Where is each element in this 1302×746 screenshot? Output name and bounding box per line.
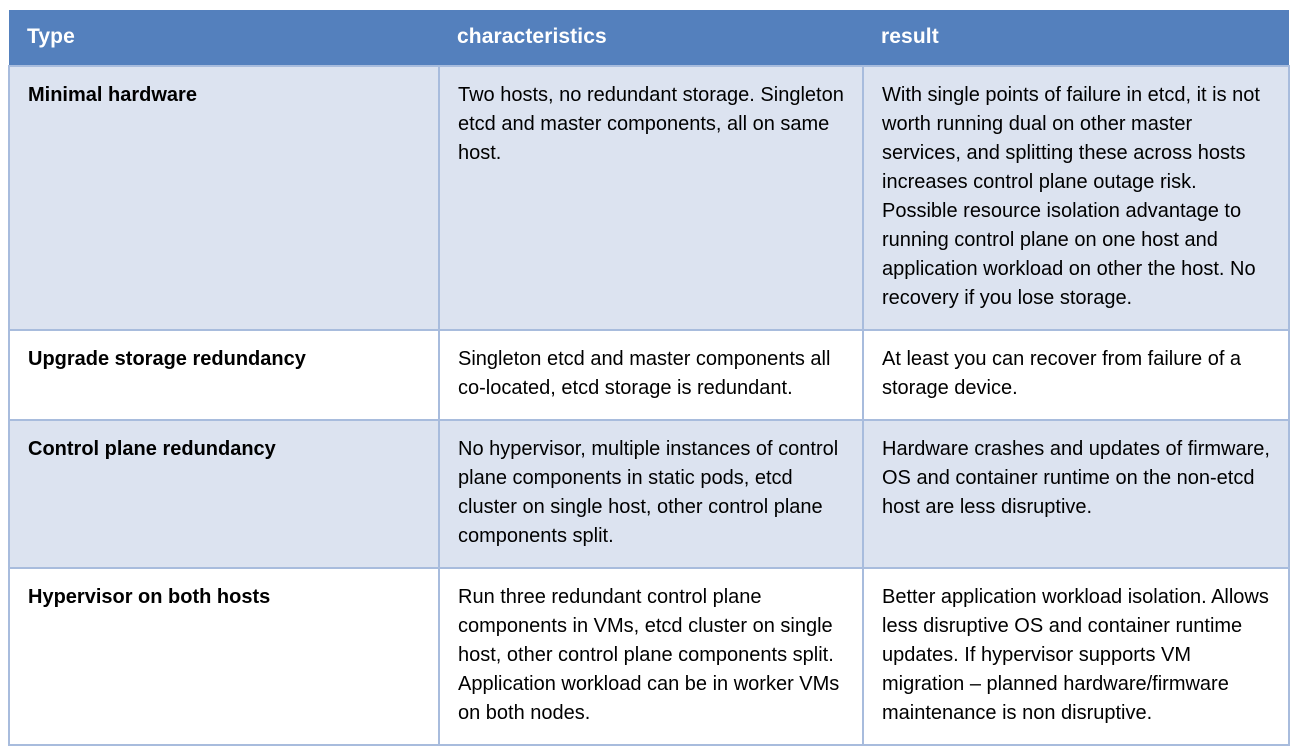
cell-characteristics-text: Run three redundant control plane compon…: [458, 583, 844, 728]
table-header: Type characteristics result: [9, 10, 1289, 66]
cell-type: Control plane redundancy: [9, 420, 439, 568]
cell-characteristics: No hypervisor, multiple instances of con…: [439, 420, 863, 568]
table-header-row: Type characteristics result: [9, 10, 1289, 66]
cell-characteristics: Singleton etcd and master components all…: [439, 330, 863, 420]
column-header-characteristics: characteristics: [439, 10, 863, 66]
cell-type: Upgrade storage redundancy: [9, 330, 439, 420]
table-row: Minimal hardwareTwo hosts, no redundant …: [9, 66, 1289, 330]
cell-result: With single points of failure in etcd, i…: [863, 66, 1289, 330]
table-row: Control plane redundancyNo hypervisor, m…: [9, 420, 1289, 568]
table-body: Minimal hardwareTwo hosts, no redundant …: [9, 66, 1289, 745]
cell-result: Hardware crashes and updates of firmware…: [863, 420, 1289, 568]
cell-result: At least you can recover from failure of…: [863, 330, 1289, 420]
comparison-table: Type characteristics result Minimal hard…: [8, 10, 1290, 746]
cell-type: Minimal hardware: [9, 66, 439, 330]
column-header-result: result: [863, 10, 1289, 66]
cell-type-text: Hypervisor on both hosts: [28, 583, 420, 612]
cell-type-text: Control plane redundancy: [28, 435, 420, 464]
cell-type: Hypervisor on both hosts: [9, 568, 439, 745]
cell-characteristics-text: Singleton etcd and master components all…: [458, 345, 844, 403]
cell-result-text: With single points of failure in etcd, i…: [882, 81, 1270, 313]
column-header-type: Type: [9, 10, 439, 66]
cell-result: Better application workload isolation. A…: [863, 568, 1289, 745]
table-row: Hypervisor on both hostsRun three redund…: [9, 568, 1289, 745]
cell-result-text: Better application workload isolation. A…: [882, 583, 1270, 728]
cell-result-text: At least you can recover from failure of…: [882, 345, 1270, 403]
cell-type-text: Upgrade storage redundancy: [28, 345, 420, 374]
table-row: Upgrade storage redundancySingleton etcd…: [9, 330, 1289, 420]
cell-type-text: Minimal hardware: [28, 81, 420, 110]
cell-characteristics-text: No hypervisor, multiple instances of con…: [458, 435, 844, 551]
cell-characteristics-text: Two hosts, no redundant storage. Singlet…: [458, 81, 844, 168]
comparison-table-container: Type characteristics result Minimal hard…: [8, 10, 1288, 700]
cell-characteristics: Two hosts, no redundant storage. Singlet…: [439, 66, 863, 330]
cell-result-text: Hardware crashes and updates of firmware…: [882, 435, 1270, 522]
cell-characteristics: Run three redundant control plane compon…: [439, 568, 863, 745]
